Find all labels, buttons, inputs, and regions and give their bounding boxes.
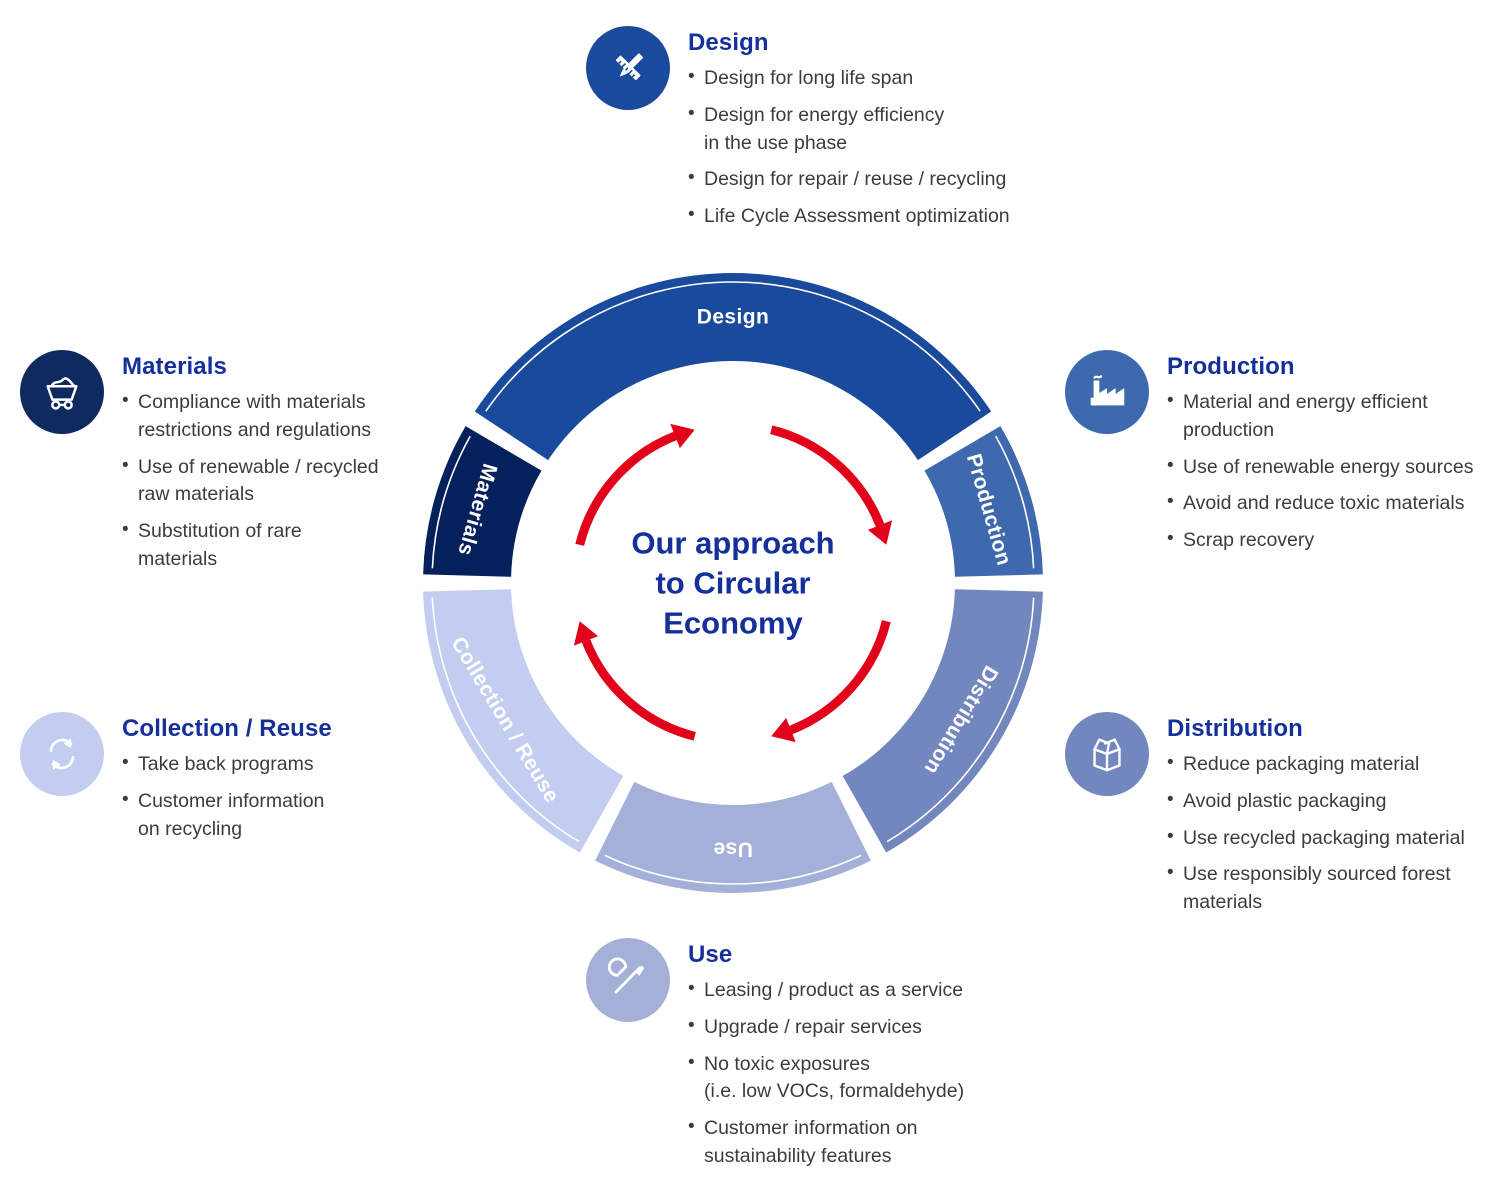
- bullet-item: Use of renewable energy sources: [1167, 454, 1474, 482]
- mining-cart-icon: [39, 369, 85, 415]
- callout-use: Use Leasing / product as a serviceUpgrad…: [586, 938, 1016, 1180]
- red-arrow-shaft-3: [791, 621, 886, 730]
- bullet-list-production: Material and energy efficient production…: [1167, 389, 1474, 554]
- red-arrow-shaft-4: [586, 641, 695, 736]
- wrench-screwdriver-icon-circle: [586, 938, 670, 1022]
- callout-production: Production Material and energy efficient…: [1065, 350, 1495, 564]
- callout-text-use: Use Leasing / product as a serviceUpgrad…: [688, 938, 964, 1180]
- callout-title-distribution: Distribution: [1167, 716, 1465, 742]
- bullet-item: Use of renewable / recycled raw material…: [122, 454, 379, 509]
- mining-cart-icon-circle: [20, 350, 104, 434]
- red-arrow-shaft-2: [771, 430, 880, 525]
- bullet-item: Scrap recovery: [1167, 527, 1474, 555]
- factory-icon-circle: [1065, 350, 1149, 434]
- bullet-item: Avoid plastic packaging: [1167, 788, 1465, 816]
- callout-text-distribution: Distribution Reduce packaging materialAv…: [1167, 712, 1465, 926]
- callout-title-production: Production: [1167, 354, 1474, 380]
- wheel-segment-design[interactable]: [475, 273, 991, 460]
- bullet-item: Design for long life span: [688, 65, 1010, 93]
- recycle-arrows-icon-circle: [20, 712, 104, 796]
- factory-icon: [1084, 369, 1130, 415]
- wheel-label-use: Use: [713, 838, 753, 861]
- bullet-item: Take back programs: [122, 751, 332, 779]
- bullet-item: Upgrade / repair services: [688, 1014, 964, 1042]
- center-title-line: to Circular: [655, 566, 810, 601]
- wheel-svg: DesignProductionDistributionUseCollectio…: [393, 243, 1073, 923]
- bullet-item: Compliance with materials restrictions a…: [122, 389, 379, 444]
- bullet-item: Design for repair / reuse / recycling: [688, 166, 1010, 194]
- callout-collection-reuse: Collection / Reuse Take back programsCus…: [20, 712, 400, 852]
- callout-title-design: Design: [688, 30, 1010, 56]
- callout-text-collection-reuse: Collection / Reuse Take back programsCus…: [122, 712, 332, 852]
- circular-economy-wheel: DesignProductionDistributionUseCollectio…: [393, 243, 1073, 923]
- pencil-ruler-icon: [605, 45, 651, 91]
- callout-text-production: Production Material and energy efficient…: [1167, 350, 1474, 564]
- wheel-segment-use[interactable]: [595, 782, 871, 893]
- recycle-arrows-icon: [39, 731, 85, 777]
- callout-distribution: Distribution Reduce packaging materialAv…: [1065, 712, 1495, 926]
- pencil-ruler-icon-circle: [586, 26, 670, 110]
- callout-text-design: Design Design for long life spanDesign f…: [688, 26, 1010, 240]
- bullet-item: Design for energy efficiency in the use …: [688, 102, 1010, 157]
- callout-title-use: Use: [688, 942, 964, 968]
- wrench-screwdriver-icon: [605, 957, 651, 1003]
- callout-title-materials: Materials: [122, 354, 379, 380]
- callout-materials: Materials Compliance with materials rest…: [20, 350, 420, 583]
- bullet-item: Avoid and reduce toxic materials: [1167, 490, 1474, 518]
- callout-design: Design Design for long life spanDesign f…: [586, 26, 1066, 240]
- open-box-icon: [1084, 731, 1130, 777]
- center-title-line: Economy: [663, 606, 803, 641]
- bullet-list-materials: Compliance with materials restrictions a…: [122, 389, 379, 573]
- center-title: Our approachto CircularEconomy: [631, 526, 834, 641]
- bullet-item: Life Cycle Assessment optimization: [688, 203, 1010, 231]
- bullet-item: No toxic exposures (i.e. low VOCs, forma…: [688, 1051, 964, 1106]
- open-box-icon-circle: [1065, 712, 1149, 796]
- bullet-item: Substitution of rare materials: [122, 518, 379, 573]
- bullet-list-distribution: Reduce packaging materialAvoid plastic p…: [1167, 751, 1465, 916]
- bullet-list-use: Leasing / product as a serviceUpgrade / …: [688, 977, 964, 1170]
- bullet-item: Use responsibly sourced forest materials: [1167, 861, 1465, 916]
- callout-text-materials: Materials Compliance with materials rest…: [122, 350, 379, 583]
- bullet-item: Material and energy efficient production: [1167, 389, 1474, 444]
- wheel-segment-distribution[interactable]: [843, 589, 1043, 852]
- bullet-list-design: Design for long life spanDesign for ener…: [688, 65, 1010, 230]
- wheel-label-design: Design: [697, 306, 769, 329]
- bullet-item: Customer information on recycling: [122, 788, 332, 843]
- bullet-item: Reduce packaging material: [1167, 751, 1465, 779]
- bullet-item: Customer information on sustainability f…: [688, 1115, 964, 1170]
- wheel-segment-collection[interactable]: [423, 589, 623, 852]
- bullet-item: Use recycled packaging material: [1167, 825, 1465, 853]
- bullet-item: Leasing / product as a service: [688, 977, 964, 1005]
- center-title-line: Our approach: [631, 526, 834, 561]
- callout-title-collection-reuse: Collection / Reuse: [122, 716, 332, 742]
- bullet-list-collection-reuse: Take back programsCustomer information o…: [122, 751, 332, 843]
